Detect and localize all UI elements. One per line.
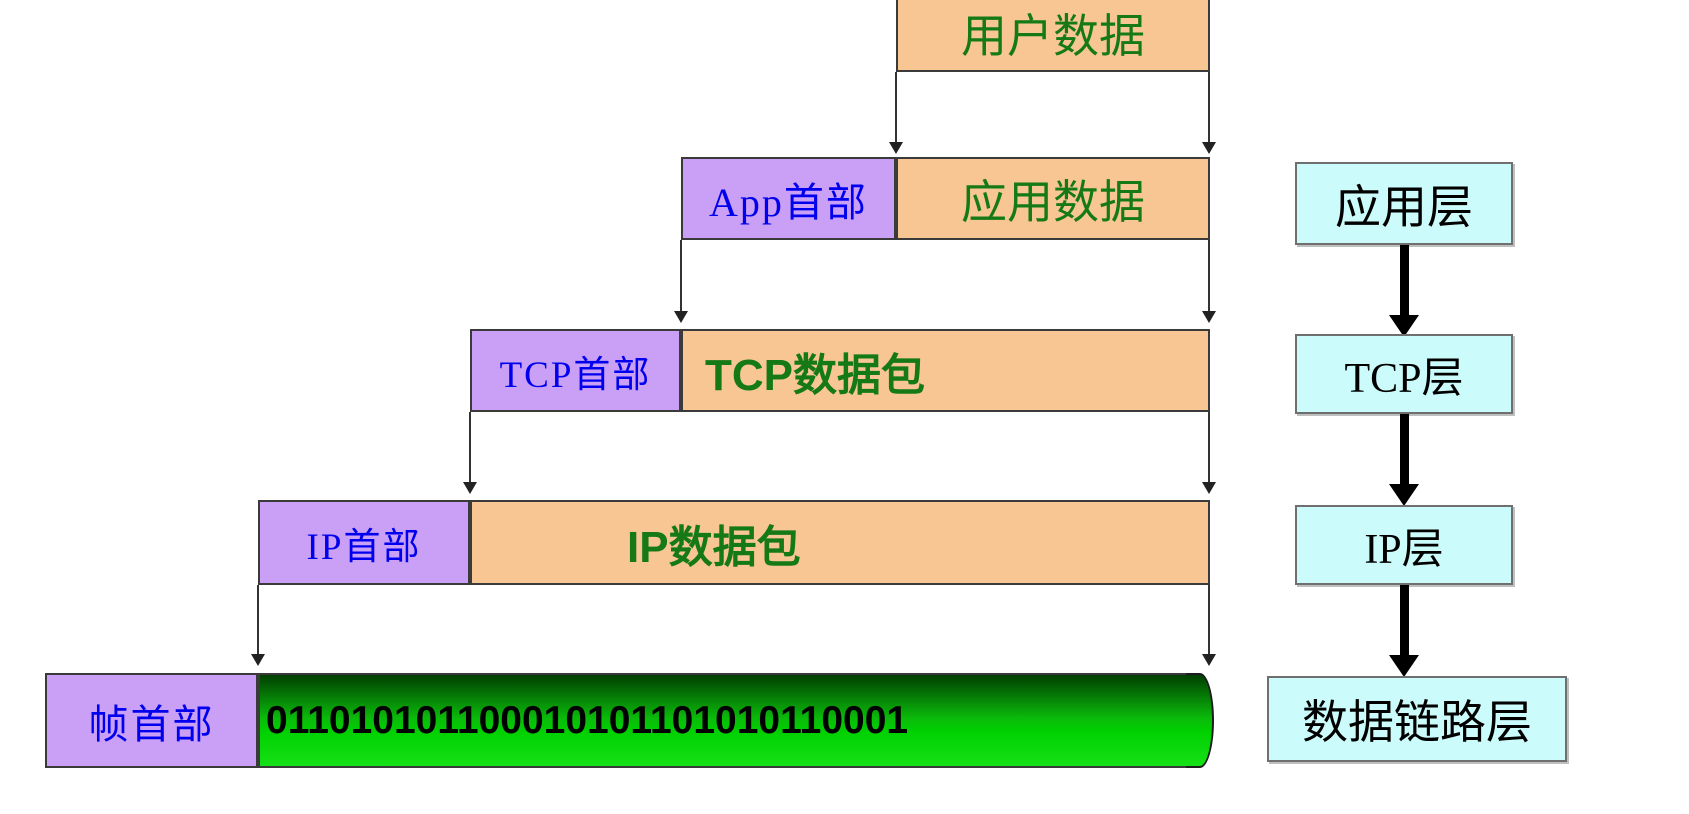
connector-right-ip-to-frame xyxy=(1208,585,1210,658)
layer-box-datalink[interactable]: 数据链路层 xyxy=(1267,676,1567,762)
arrow-tip-left-tcp-to-ip xyxy=(463,482,477,494)
arrow-tip-right-ip-to-frame xyxy=(1202,654,1216,666)
ip-header-block: IP首部 xyxy=(258,500,470,585)
app-header-block: App首部 xyxy=(681,157,896,240)
frame-header-block: 帧首部 xyxy=(45,673,258,768)
connector-right-tcp-to-ip xyxy=(1208,412,1210,486)
layer-box-ip[interactable]: IP层 xyxy=(1295,505,1513,585)
connector-left-user-to-app xyxy=(895,72,897,146)
ip-data-payload: IP数据包 xyxy=(470,500,1210,585)
arrow-tip-left-ip-to-frame xyxy=(251,654,265,666)
connector-left-tcp-to-ip xyxy=(469,412,471,486)
connector-left-app-to-tcp xyxy=(680,240,682,315)
layer-arrow-ip-to-datalink-head xyxy=(1389,655,1419,677)
connector-right-user-to-app xyxy=(1208,72,1210,146)
layer-box-application[interactable]: 应用层 xyxy=(1295,162,1513,245)
layer-arrow-ip-to-datalink-shaft xyxy=(1400,585,1409,661)
encapsulation-diagram: 用户数据 App首部 应用数据 TCP首部 TCP数据包 IP首部 IP数据包 … xyxy=(0,0,1689,814)
arrow-tip-right-app-to-tcp xyxy=(1202,311,1216,323)
frame-cylinder-cap xyxy=(1186,673,1214,768)
arrow-tip-left-user-to-app xyxy=(889,142,903,154)
layer-arrow-tcp-to-ip-shaft xyxy=(1400,414,1409,490)
layer-arrow-tcp-to-ip-head xyxy=(1389,484,1419,506)
tcp-data-payload: TCP数据包 xyxy=(681,329,1210,412)
connector-right-app-to-tcp xyxy=(1208,240,1210,315)
arrow-tip-right-tcp-to-ip xyxy=(1202,482,1216,494)
tcp-header-block: TCP首部 xyxy=(470,329,681,412)
user-data-payload: 用户数据 xyxy=(896,0,1210,72)
arrow-tip-right-user-to-app xyxy=(1202,142,1216,154)
layer-arrow-app-to-tcp-shaft xyxy=(1400,245,1409,321)
frame-bitstream-payload: 011010101100010101101010110001 xyxy=(258,673,1188,768)
app-data-payload: 应用数据 xyxy=(896,157,1210,240)
layer-box-tcp[interactable]: TCP层 xyxy=(1295,334,1513,414)
arrow-tip-left-app-to-tcp xyxy=(674,311,688,323)
connector-left-ip-to-frame xyxy=(257,585,259,658)
